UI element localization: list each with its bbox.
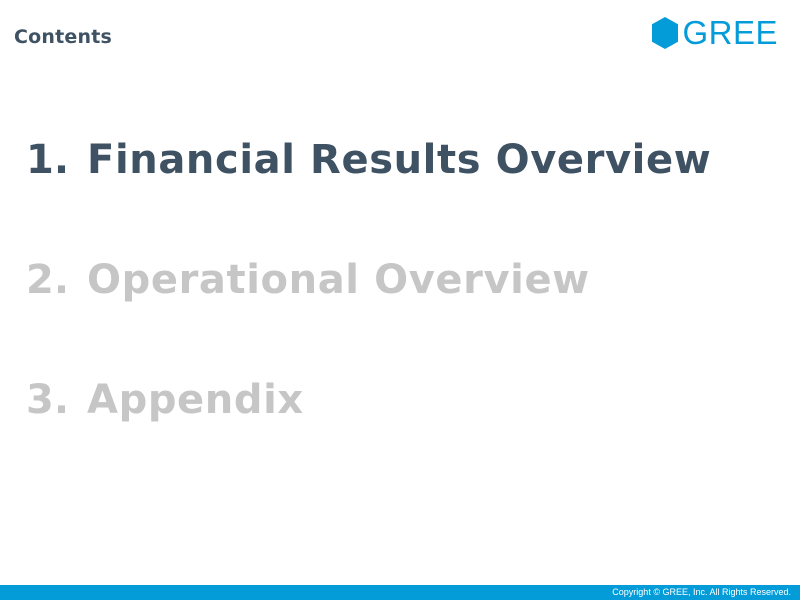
slide-footer: Copyright © GREE, Inc. All Rights Reserv… (0, 585, 800, 600)
agenda-list: 1. Financial Results Overview 2. Operati… (0, 140, 800, 500)
agenda-item-number: 1. (26, 140, 69, 180)
presentation-slide: Contents GREE 1. Financial Results Overv… (0, 0, 800, 600)
slide-header: Contents GREE (0, 0, 800, 70)
gree-wordmark: GREE (682, 17, 778, 49)
agenda-item-financial-results-overview[interactable]: 1. Financial Results Overview (0, 140, 800, 260)
gree-logo: GREE (651, 17, 778, 49)
agenda-item-operational-overview[interactable]: 2. Operational Overview (0, 260, 800, 380)
agenda-item-number: 3. (26, 380, 69, 420)
agenda-item-label: Appendix (87, 380, 304, 420)
agenda-item-number: 2. (26, 260, 69, 300)
agenda-item-label: Operational Overview (87, 260, 590, 300)
agenda-item-label: Financial Results Overview (87, 140, 711, 180)
page-title: Contents (14, 28, 112, 47)
hexagon-icon (651, 17, 679, 49)
copyright-text: Copyright © GREE, Inc. All Rights Reserv… (612, 588, 800, 597)
agenda-item-appendix[interactable]: 3. Appendix (0, 380, 800, 500)
